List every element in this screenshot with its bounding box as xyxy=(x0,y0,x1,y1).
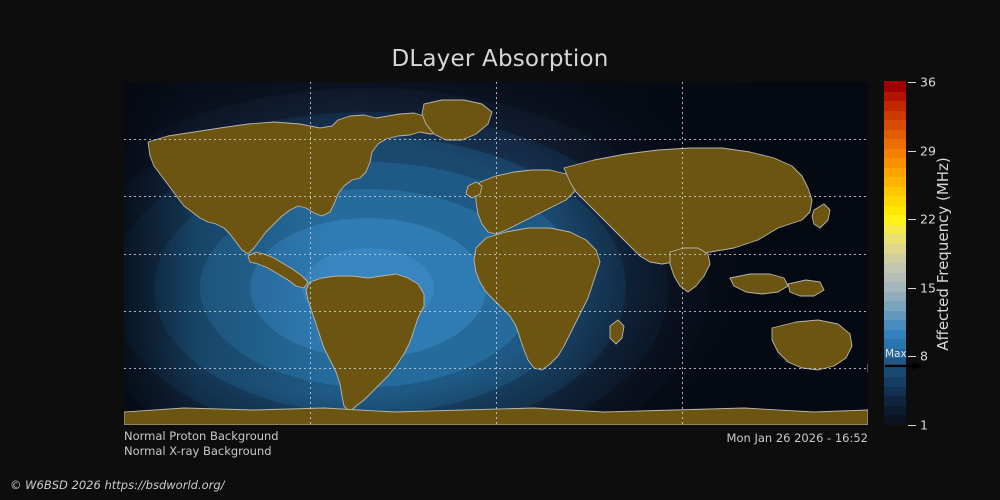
colorbar-segment-23 xyxy=(884,196,906,206)
colorbar-segment-16 xyxy=(884,262,906,272)
colorbar-segment-32 xyxy=(884,110,906,120)
colorbar-segment-28 xyxy=(884,148,906,158)
continents-layer xyxy=(124,82,868,425)
colorbar-segment-25 xyxy=(884,177,906,187)
colorbar-segment-15 xyxy=(884,272,906,282)
world-map[interactable] xyxy=(124,82,868,425)
max-marker-label: Max xyxy=(885,349,907,360)
colorbar-segment-12 xyxy=(884,301,906,311)
colorbar-tick-label-1: 1 xyxy=(920,418,928,433)
colorbar-segment-21 xyxy=(884,215,906,225)
xray-background-status: Normal X-ray Background xyxy=(124,444,279,459)
colorbar-segment-24 xyxy=(884,186,906,196)
colorbar[interactable]: 1815222936 Max xyxy=(884,82,906,425)
proton-background-status: Normal Proton Background xyxy=(124,429,279,444)
colorbar-tick-1 xyxy=(908,425,916,426)
colorbar-segment-19 xyxy=(884,234,906,244)
colorbar-axis-title-text: Affected Frequency (MHz) xyxy=(934,157,952,351)
colorbar-segment-9 xyxy=(884,329,906,339)
colorbar-segment-31 xyxy=(884,120,906,130)
colorbar-segment-18 xyxy=(884,243,906,253)
colorbar-segment-33 xyxy=(884,100,906,110)
status-captions: Normal Proton Background Normal X-ray Ba… xyxy=(124,429,279,459)
colorbar-tick-29 xyxy=(908,151,916,152)
colorbar-segment-20 xyxy=(884,224,906,234)
map-inner xyxy=(124,82,868,425)
colorbar-segment-27 xyxy=(884,158,906,168)
colorbar-segment-1 xyxy=(884,405,906,415)
colorbar-segment-35 xyxy=(884,81,906,91)
colorbar-segment-10 xyxy=(884,320,906,330)
colorbar-gradient xyxy=(884,82,906,425)
colorbar-tick-22 xyxy=(908,219,916,220)
colorbar-segment-22 xyxy=(884,205,906,215)
max-arrow-icon xyxy=(885,362,923,370)
colorbar-segment-13 xyxy=(884,291,906,301)
dlayer-absorption-page: DLayer Absorption xyxy=(0,0,1000,500)
colorbar-tick-36 xyxy=(908,82,916,83)
colorbar-segment-30 xyxy=(884,129,906,139)
colorbar-segment-29 xyxy=(884,139,906,149)
colorbar-segment-2 xyxy=(884,396,906,406)
timestamp: Mon Jan 26 2026 - 16:52 xyxy=(727,431,868,445)
copyright-footer: © W6BSD 2026 https://bsdworld.org/ xyxy=(10,478,225,492)
colorbar-axis-title: Affected Frequency (MHz) xyxy=(930,82,956,425)
page-title: DLayer Absorption xyxy=(0,46,1000,72)
colorbar-segment-8 xyxy=(884,339,906,349)
colorbar-segment-0 xyxy=(884,415,906,425)
colorbar-segment-26 xyxy=(884,167,906,177)
colorbar-segment-3 xyxy=(884,386,906,396)
colorbar-segment-11 xyxy=(884,310,906,320)
colorbar-segment-14 xyxy=(884,282,906,292)
colorbar-segment-4 xyxy=(884,377,906,387)
colorbar-segment-34 xyxy=(884,91,906,101)
colorbar-segment-17 xyxy=(884,253,906,263)
colorbar-tick-15 xyxy=(908,288,916,289)
max-marker: Max xyxy=(885,350,929,372)
